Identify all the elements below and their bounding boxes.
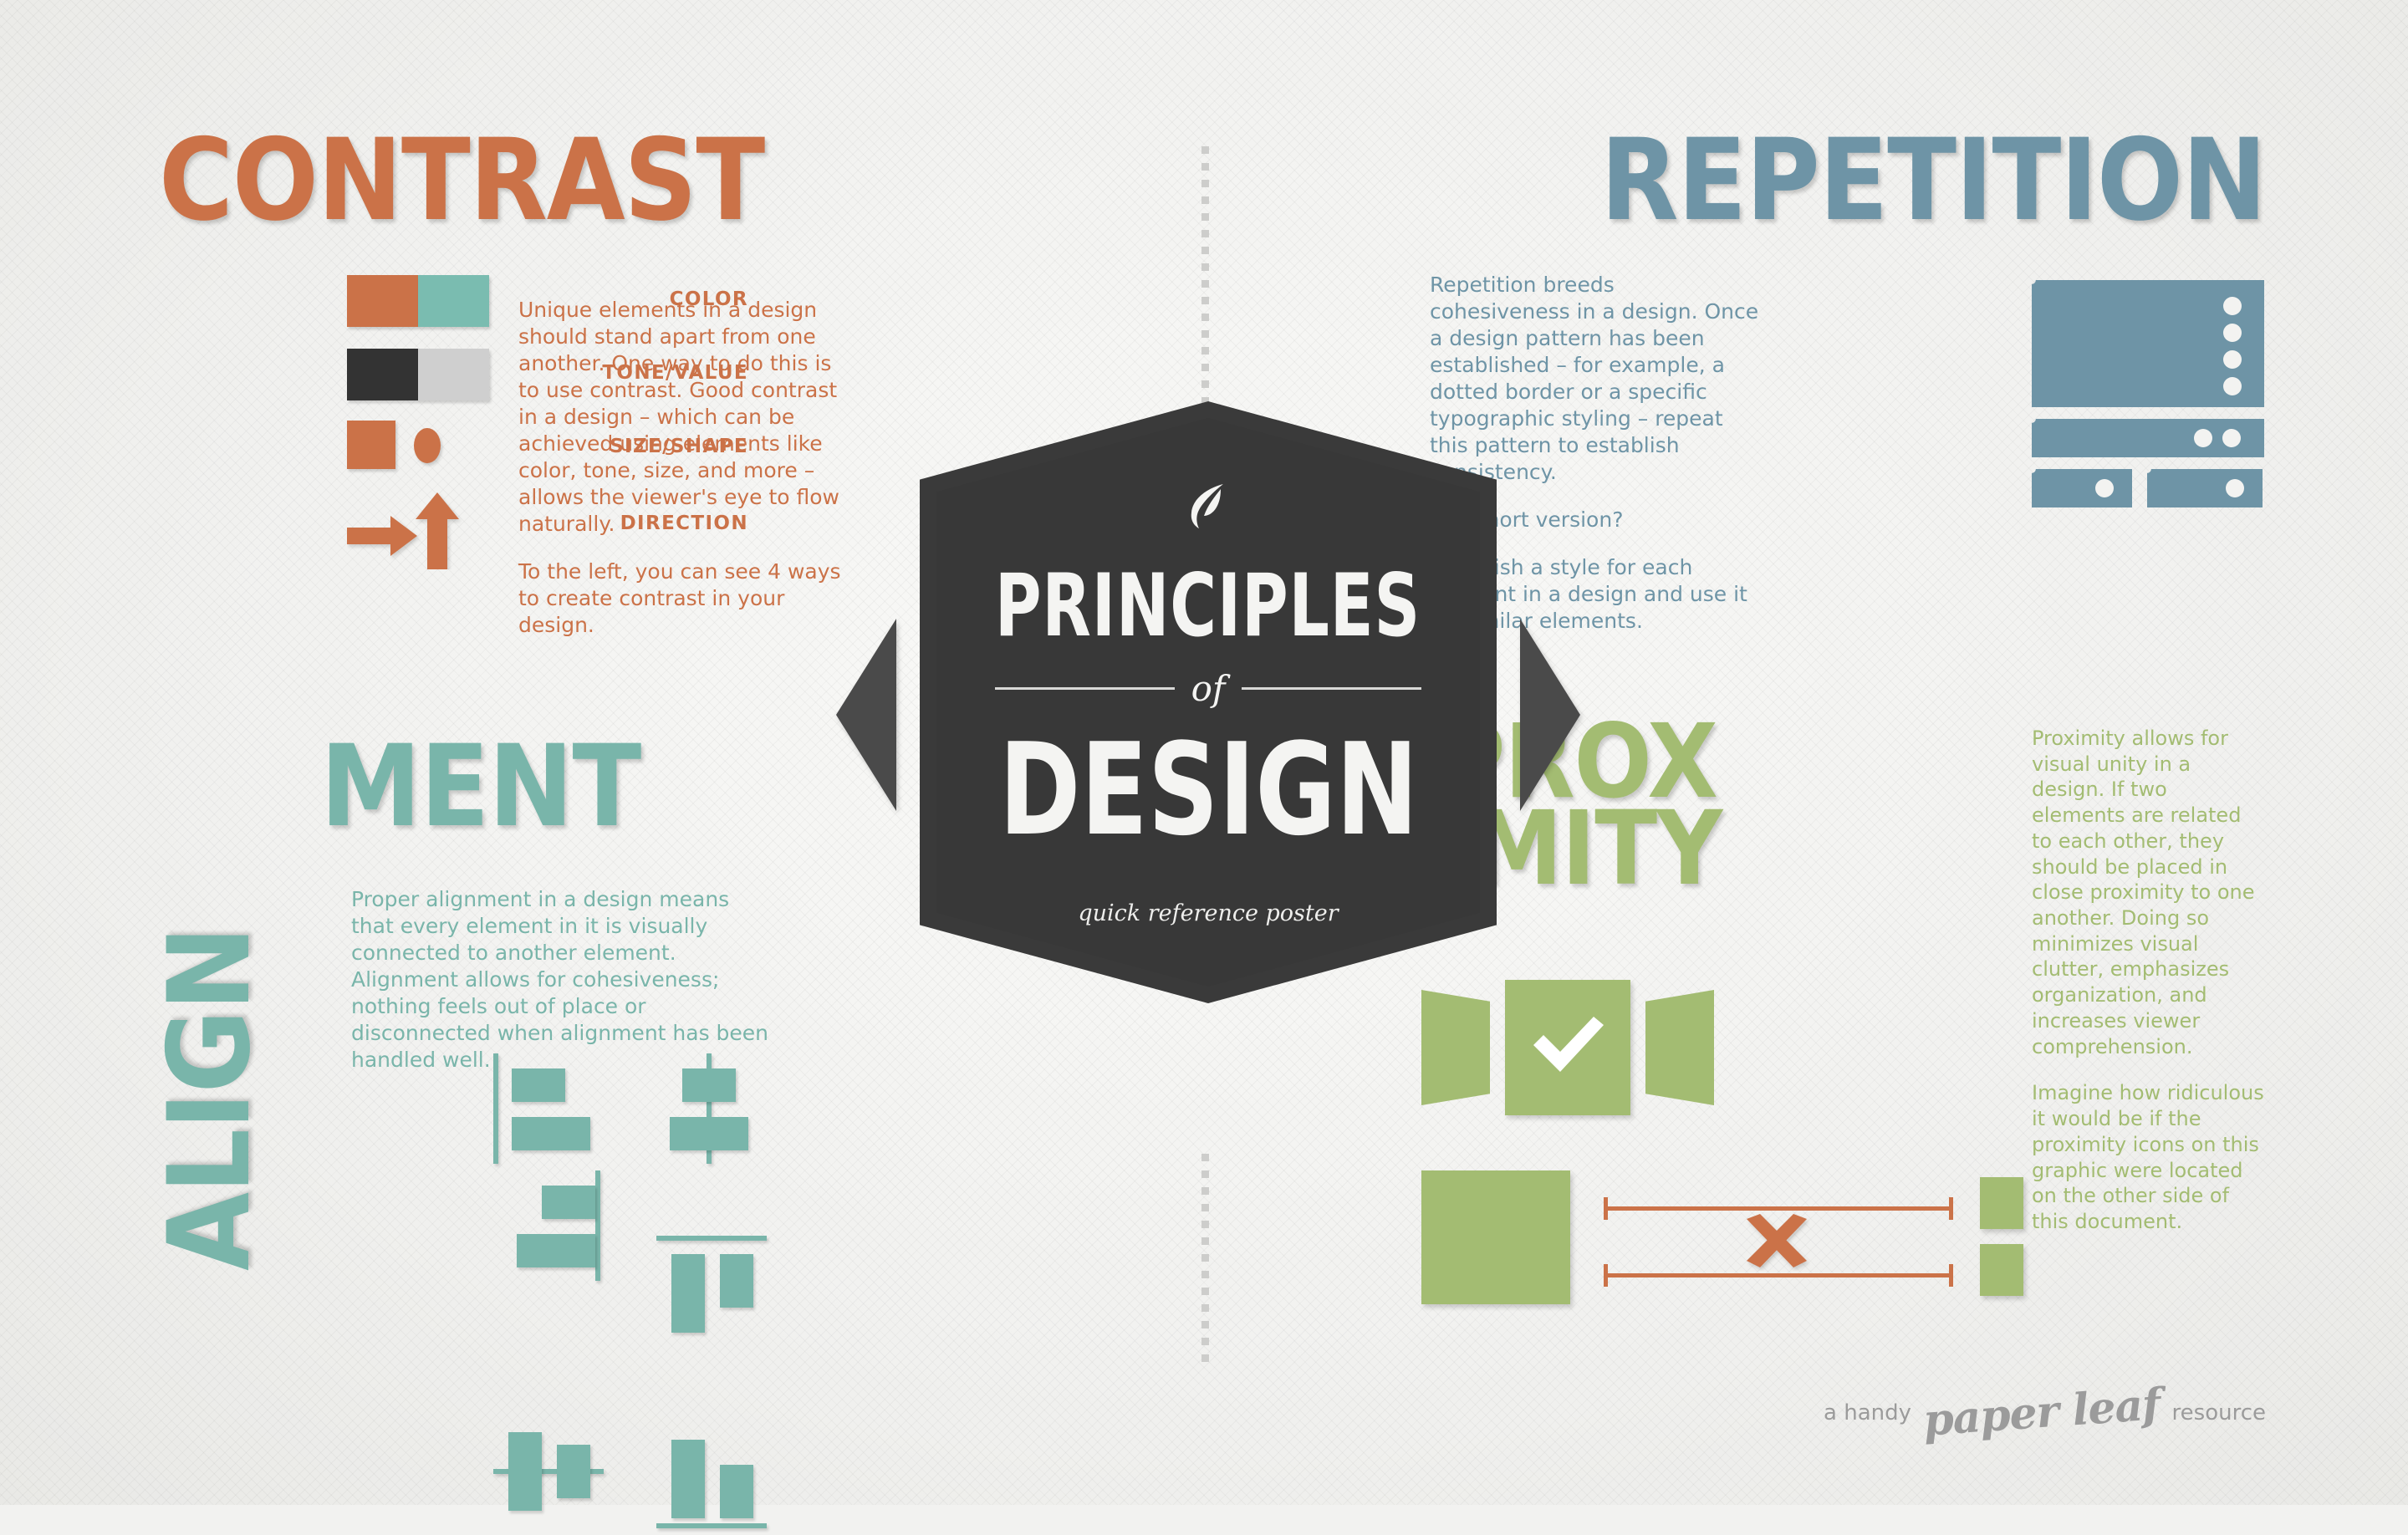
size-circle	[414, 428, 441, 463]
proximity-panel-left	[1421, 990, 1490, 1105]
contrast-paragraph-2: To the left, you can see 4 ways to creat…	[518, 558, 853, 639]
check-icon	[1530, 1012, 1607, 1079]
measure-cap-bottom-left	[1604, 1264, 1608, 1287]
badge-rule-right	[1242, 687, 1421, 690]
stamp-dot	[2222, 429, 2241, 447]
stamp-wide	[2032, 419, 2264, 457]
proximity-paragraph-1: Proximity allows for visual unity in a d…	[2032, 726, 2266, 1059]
leaf-icon	[1189, 482, 1227, 529]
direction-arrows-icon	[347, 486, 497, 569]
measure-line-top	[1604, 1206, 1953, 1211]
x-icon	[1743, 1214, 1810, 1271]
alignment-title-horizontal: MENT	[320, 736, 640, 838]
align-bottom-icon	[656, 1418, 815, 1535]
alignment-description: Proper alignment in a design means that …	[351, 886, 769, 1073]
proximity-bad-icon	[1421, 1170, 2023, 1329]
size-square	[347, 421, 395, 469]
align-top-icon	[656, 1236, 815, 1353]
badge-subtitle: quick reference poster	[1078, 900, 1338, 926]
tone-swatch-light	[418, 349, 489, 400]
badge-content: PRINCIPLES of DESIGN quick reference pos…	[920, 401, 1497, 1003]
stamp-dot	[2223, 350, 2242, 369]
stamp-small-left	[2032, 469, 2132, 507]
align-center-vertical-icon	[493, 1418, 652, 1535]
arrow-right-icon	[1520, 619, 1580, 811]
stamp-dot	[2194, 429, 2212, 447]
align-left-icon	[493, 1053, 652, 1170]
contrast-art-size	[347, 421, 441, 469]
proximity-description: Proximity allows for visual unity in a d…	[2032, 726, 2266, 1235]
proximity-block-small-top	[1980, 1177, 2023, 1229]
color-swatch-teal	[418, 275, 489, 327]
proximity-block-small-bottom	[1980, 1244, 2023, 1296]
repetition-title: REPETITION	[1421, 130, 2266, 232]
proximity-block-large	[1421, 1170, 1570, 1304]
badge-connector-row: of	[995, 668, 1421, 709]
tone-swatch-dark	[347, 349, 418, 400]
alignment-paragraph-1: Proper alignment in a design means that …	[351, 886, 769, 1073]
divider-top	[1201, 146, 1209, 405]
alignment-icons	[493, 1053, 978, 1535]
section-contrast: CONTRAST COLOR TONE/VALUE SIZE/SHAPE DIR…	[159, 130, 1003, 496]
center-badge: PRINCIPLES of DESIGN quick reference pos…	[920, 401, 1497, 1003]
repetition-body: Repetition breeds cohesiveness in a desi…	[1421, 272, 2266, 548]
footer-prefix: a handy	[1824, 1400, 1911, 1425]
contrast-paragraph-1: Unique elements in a design should stand…	[518, 297, 853, 538]
stamp-large	[2032, 280, 2264, 407]
paper-leaf-logo[interactable]: paper leaf	[1921, 1379, 2161, 1446]
color-swatch-orange	[347, 275, 418, 327]
stamp-dot	[2223, 297, 2242, 315]
stamp-dot	[2226, 479, 2244, 497]
contrast-art-direction	[347, 486, 497, 569]
contrast-art-tone	[347, 349, 489, 400]
alignment-title-vertical: ALIGN	[159, 927, 261, 1271]
measure-cap-bottom-right	[1949, 1264, 1953, 1287]
measure-cap-top-left	[1604, 1197, 1608, 1220]
footer-suffix: resource	[2172, 1400, 2266, 1425]
repetition-stamps	[2032, 280, 2266, 507]
stamp-dot	[2223, 377, 2242, 395]
stamp-dot	[2223, 324, 2242, 342]
align-right-icon	[493, 1170, 652, 1288]
stamp-dot	[2095, 479, 2114, 497]
poster-canvas: CONTRAST COLOR TONE/VALUE SIZE/SHAPE DIR…	[0, 0, 2408, 1505]
divider-bottom	[1201, 1154, 1209, 1371]
badge-rule-left	[995, 687, 1175, 690]
footer-credit: a handy paper leaf resource	[1824, 1387, 2266, 1438]
stamp-small-right	[2147, 469, 2263, 507]
measure-line-bottom	[1604, 1273, 1953, 1277]
proximity-panel-right	[1645, 990, 1714, 1105]
contrast-title: CONTRAST	[159, 130, 1003, 232]
contrast-description: Unique elements in a design should stand…	[518, 297, 853, 639]
proximity-paragraph-2: Imagine how ridiculous it would be if th…	[2032, 1080, 2266, 1234]
section-repetition: REPETITION Repetition breeds cohesivenes…	[1421, 130, 2266, 548]
contrast-art-color	[347, 275, 489, 327]
arrow-left-icon	[836, 619, 896, 811]
measure-cap-top-right	[1949, 1197, 1953, 1220]
stamp-pair	[2032, 469, 2266, 507]
align-center-horizontal-icon	[656, 1053, 815, 1170]
badge-connector: of	[1191, 668, 1226, 709]
badge-title-bottom: DESIGN	[998, 716, 1417, 864]
badge-title-top: PRINCIPLES	[995, 556, 1421, 656]
